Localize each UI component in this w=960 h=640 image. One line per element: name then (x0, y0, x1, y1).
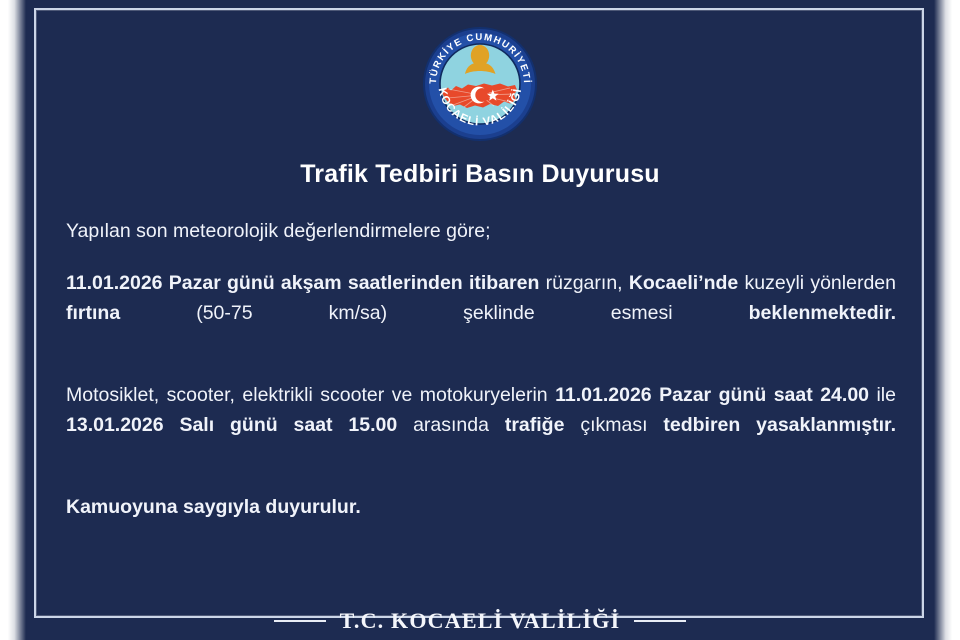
kocaeli-governorship-emblem-icon: TÜRKİYE CUMHURİYETİ KOCAELİ VALİLİĞİ (418, 22, 542, 146)
footer: T.C. KOCAELİ VALİLİĞİ (0, 608, 960, 634)
weather-datetime: 11.01.2026 Pazar günü akşam saatlerinden… (66, 272, 539, 294)
crest-container: TÜRKİYE CUMHURİYETİ KOCAELİ VALİLİĞİ (0, 22, 960, 146)
footer-rule-right (634, 620, 686, 622)
weather-expectation: beklenmektedir. (749, 302, 896, 324)
page-title: Trafik Tedbiri Basın Duyurusu (0, 160, 960, 189)
restriction-vehicles: Motosiklet, scooter, elektrikli scooter … (66, 384, 555, 406)
intro-paragraph: Yapılan son meteorolojik değerlendirmele… (66, 216, 896, 246)
weather-paragraph: 11.01.2026 Pazar günü akşam saatlerinden… (66, 268, 896, 358)
announcement-body: Yapılan son meteorolojik değerlendirmele… (66, 216, 896, 522)
weather-location: Kocaeli’nde (629, 272, 738, 294)
restriction-traffic-word: trafiğe (505, 414, 565, 436)
weather-text-1: rüzgarın, (539, 272, 628, 294)
restriction-exit-word: çıkması (564, 414, 663, 436)
restriction-between: arasında (397, 414, 505, 436)
weather-storm-word: fırtına (66, 302, 120, 324)
restriction-conj: ile (869, 384, 896, 406)
restriction-start: 11.01.2026 Pazar günü saat 24.00 (555, 384, 869, 406)
poster-content: TÜRKİYE CUMHURİYETİ KOCAELİ VALİLİĞİ Tra… (0, 0, 960, 640)
closing-text: Kamuoyuna saygıyla duyurulur. (66, 496, 361, 518)
restriction-end: 13.01.2026 Salı günü saat 15.00 (66, 414, 397, 436)
restriction-ban: tedbiren yasaklanmıştır. (663, 414, 896, 436)
footer-label: T.C. KOCAELİ VALİLİĞİ (340, 608, 621, 634)
weather-speed: (50-75 km/sa) şeklinde esmesi (120, 302, 748, 324)
weather-text-2: kuzeyli yönlerden (738, 272, 896, 294)
press-release-poster: TÜRKİYE CUMHURİYETİ KOCAELİ VALİLİĞİ Tra… (0, 0, 960, 640)
footer-rule-left (274, 620, 326, 622)
restriction-paragraph: Motosiklet, scooter, elektrikli scooter … (66, 380, 896, 470)
closing-paragraph: Kamuoyuna saygıyla duyurulur. (66, 492, 896, 522)
